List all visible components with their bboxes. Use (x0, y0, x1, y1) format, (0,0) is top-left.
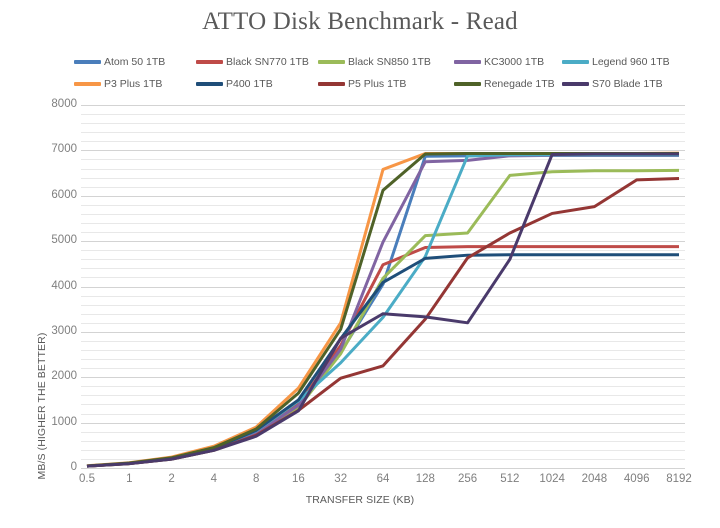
legend-item-p5-plus-1tb[interactable]: P5 Plus 1TB (318, 74, 406, 94)
legend-label: P3 Plus 1TB (104, 74, 162, 94)
x-axis-line (81, 468, 685, 469)
y-tick-label: 5000 (31, 234, 77, 246)
series-line-kc3000-1tb (87, 155, 679, 466)
x-axis-ticks: 0.512481632641282565121024204840968192 (81, 473, 685, 489)
series-line-renegade-1tb (87, 154, 679, 466)
legend-swatch-icon (454, 82, 481, 86)
legend-item-s70-blade-1tb[interactable]: S70 Blade 1TB (562, 74, 663, 94)
series-lines (81, 105, 685, 468)
chart-container: ATTO Disk Benchmark - Read Atom 50 1TBBl… (0, 0, 720, 528)
chart-legend: Atom 50 1TBBlack SN770 1TBBlack SN850 1T… (74, 52, 674, 98)
legend-label: P5 Plus 1TB (348, 74, 406, 94)
legend-label: KC3000 1TB (484, 52, 544, 72)
legend-item-black-sn850-1tb[interactable]: Black SN850 1TB (318, 52, 431, 72)
legend-item-p3-plus-1tb[interactable]: P3 Plus 1TB (74, 74, 162, 94)
legend-label: S70 Blade 1TB (592, 74, 663, 94)
legend-label: P400 1TB (226, 74, 273, 94)
legend-swatch-icon (562, 60, 589, 64)
x-tick-label: 8192 (649, 473, 709, 485)
legend-swatch-icon (318, 82, 345, 86)
y-tick-label: 7000 (31, 143, 77, 155)
series-line-p3-plus-1tb (87, 153, 679, 466)
plot-area (81, 105, 685, 468)
legend-label: Atom 50 1TB (104, 52, 165, 72)
legend-swatch-icon (562, 82, 589, 86)
legend-item-legend-960-1tb[interactable]: Legend 960 1TB (562, 52, 670, 72)
legend-swatch-icon (74, 82, 101, 86)
legend-label: Legend 960 1TB (592, 52, 670, 72)
y-tick-label: 6000 (31, 189, 77, 201)
legend-item-black-sn770-1tb[interactable]: Black SN770 1TB (196, 52, 309, 72)
x-axis-title: TRANSFER SIZE (KB) (0, 494, 720, 506)
series-line-p5-plus-1tb (87, 179, 679, 467)
y-tick-label: 4000 (31, 280, 77, 292)
series-line-atom-50-1tb (87, 155, 679, 466)
legend-item-p400-1tb[interactable]: P400 1TB (196, 74, 273, 94)
legend-label: Black SN850 1TB (348, 52, 431, 72)
legend-item-atom-50-1tb[interactable]: Atom 50 1TB (74, 52, 165, 72)
series-line-s70-blade-1tb (87, 154, 679, 466)
legend-swatch-icon (196, 60, 223, 64)
y-axis-title: MB/S (HIGHER THE BETTER) (36, 296, 48, 516)
series-line-legend-960-1tb (87, 155, 679, 466)
legend-item-renegade-1tb[interactable]: Renegade 1TB (454, 74, 555, 94)
legend-swatch-icon (454, 60, 481, 64)
legend-item-kc3000-1tb[interactable]: KC3000 1TB (454, 52, 544, 72)
legend-label: Black SN770 1TB (226, 52, 309, 72)
legend-swatch-icon (196, 82, 223, 86)
chart-title: ATTO Disk Benchmark - Read (0, 8, 720, 36)
legend-swatch-icon (318, 60, 345, 64)
y-axis-title-wrapper: MB/S (HIGHER THE BETTER) (12, 180, 32, 380)
y-tick-label: 8000 (31, 98, 77, 110)
legend-label: Renegade 1TB (484, 74, 555, 94)
legend-swatch-icon (74, 60, 101, 64)
